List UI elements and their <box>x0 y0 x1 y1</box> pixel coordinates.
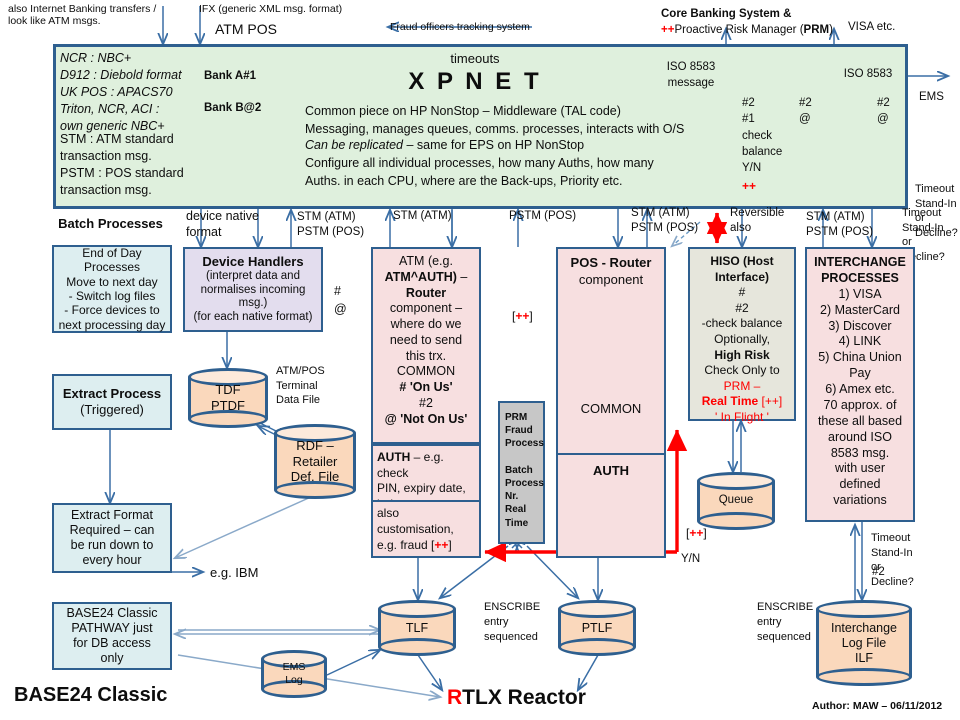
atm-auth-custom-bracket-close: ] <box>448 538 451 552</box>
xpnet-iso8583-right: ISO 8583 <box>832 68 904 81</box>
box-extract-process-title: Extract Process <box>63 386 161 402</box>
xpnet-description-2: Configure all individual processes, how … <box>305 155 705 191</box>
annotation-internet-banking: also Internet Banking transfers / look l… <box>8 3 158 27</box>
bracket-close-1: ] <box>529 309 532 323</box>
hiso-realtime: Real Time [++] <box>693 394 791 410</box>
cylinder-rdf[interactable]: RDF – Retailer Def. File <box>274 424 356 499</box>
atm-auth-custom-plus: ++ <box>434 538 448 552</box>
rtlx-reactor-title: RTLX Reactor <box>447 686 707 710</box>
label-plus-bracket-1: [++] <box>512 310 548 324</box>
hiso-lines: # #2 -check balance Optionally, <box>693 285 791 347</box>
annotation-ifx: IFX (generic XML msg. format) <box>199 3 379 15</box>
xpnet-bank-b: Bank B@2 <box>204 102 264 115</box>
cylinder-ems-log-label: EMS Log <box>261 650 327 698</box>
label-batch-processes: Batch Processes <box>48 216 173 231</box>
label-reversible-also: Reversible also <box>730 206 790 236</box>
xpnet-ems-label: EMS <box>919 91 959 104</box>
core-banking-prm-abbr: PRM <box>804 24 830 36</box>
bracket-plus-1: ++ <box>515 309 529 323</box>
cylinder-tdf-label: TDF PTDF <box>188 368 268 428</box>
xpnet-formats-italic: NCR : NBC+ D912 : Diebold format UK POS … <box>60 50 202 135</box>
box-extract-process[interactable]: Extract Process (Triggered) <box>52 374 172 430</box>
pos-auth-label: AUTH <box>562 463 660 479</box>
annotation-core-banking-line1: Core Banking System & <box>661 8 891 21</box>
box-extract-format-label: Extract Format Required – can be run dow… <box>70 508 155 568</box>
hiso-title: HISO (Host Interface) <box>693 254 791 285</box>
hiso-prm: PRM – <box>693 379 791 395</box>
footer-author: Author: MAW – 06/11/2012 <box>812 700 960 712</box>
xpnet-column-1: #2 #1 check balance Y/N <box>742 95 802 177</box>
box-base24-pathway-label: BASE24 Classic PATHWAY just for DB acces… <box>66 606 157 666</box>
box-end-of-day-label: End of Day Processes Move to next day - … <box>59 246 166 332</box>
atm-auth-head: AUTH – e.g. check <box>377 450 475 481</box>
xpnet-timeouts-label: timeouts <box>425 51 525 66</box>
xpnet-description-1: Common piece on HP NonStop – Middleware … <box>305 103 705 139</box>
box-extract-process-body: (Triggered) <box>80 402 144 418</box>
xpnet-bank-a: Bank A#1 <box>204 70 264 83</box>
cylinder-ptlf[interactable]: PTLF <box>558 600 636 656</box>
label-stm-pstm-4: STM (ATM) PSTM (POS) <box>631 206 715 236</box>
atm-router-hash2: #2 <box>376 396 476 412</box>
label-atm-pos-terminal-data-file: ATM/POS Terminal Data File <box>276 364 346 408</box>
atm-router-line4: component – where do we need to send thi… <box>376 301 476 380</box>
footer-title: BASE24 Classic <box>14 684 274 707</box>
interchange-title: INTERCHANGE PROCESSES <box>810 255 910 287</box>
label-pstm-pos-3: PSTM (POS) <box>509 210 591 223</box>
label-hash-at: # @ <box>334 283 354 318</box>
label-enscribe-1: ENSCRIBE entry sequenced <box>484 600 554 645</box>
label-timeout-standin-decline-2: Timeout Stand-In or Decline? <box>871 531 931 589</box>
pos-router-title: POS - Router <box>562 255 660 272</box>
box-base24-pathway[interactable]: BASE24 Classic PATHWAY just for DB acces… <box>52 602 172 670</box>
xpnet-iso8583-message: ISO 8583 message <box>660 60 722 91</box>
cylinder-ilf-label: Interchange Log File ILF <box>816 600 912 686</box>
box-interchange-processes[interactable]: INTERCHANGE PROCESSES 1) VISA 2) MasterC… <box>805 247 915 522</box>
cylinder-tlf-label: TLF <box>378 600 456 656</box>
atm-router-authname: ATM^AUTH) <box>385 270 457 284</box>
label-yn: Y/N <box>681 553 721 566</box>
box-atm-auth-lower[interactable]: also customisation, e.g. fraud [++] <box>371 500 481 558</box>
label-hash2: #2 <box>872 566 902 579</box>
xpnet-replicated-italic: Can be replicated <box>305 138 403 152</box>
atm-router-dash: – <box>457 270 467 284</box>
hiso-realtime-plus: [++] <box>758 394 782 408</box>
diagram-canvas: also Internet Banking transfers / look l… <box>0 0 960 720</box>
xpnet-column-3: #2 @ <box>877 95 917 128</box>
atm-router-line1: ATM (e.g. <box>376 254 476 270</box>
atm-auth-head-bold: AUTH <box>377 450 410 464</box>
box-pos-auth[interactable]: AUTH <box>556 453 666 558</box>
annotation-atm-pos: ATM POS <box>215 21 335 37</box>
label-stm-pstm-5: STM (ATM) PSTM (POS) <box>806 210 890 240</box>
label-device-native-format: device native format <box>186 208 268 240</box>
cylinder-tlf[interactable]: TLF <box>378 600 456 656</box>
cylinder-tdf[interactable]: TDF PTDF <box>188 368 268 428</box>
box-end-of-day[interactable]: End of Day Processes Move to next day - … <box>52 245 172 333</box>
xpnet-column-2: #2 @ <box>799 95 839 128</box>
core-banking-paren: ) <box>829 24 833 36</box>
hiso-realtime-bold: Real Time <box>702 394 758 408</box>
xpnet-replicated-rest: – same for EPS on HP NonStop <box>406 138 584 152</box>
cylinder-rdf-label: RDF – Retailer Def. File <box>274 424 356 499</box>
annotation-fraud-officers: Fraud officers tracking system <box>390 21 550 33</box>
cylinder-ems-log[interactable]: EMS Log <box>261 650 327 698</box>
core-banking-prm-text: Proactive Risk Manager ( <box>674 24 803 36</box>
interchange-body: 1) VISA 2) MasterCard 3) Discover 4) LIN… <box>810 287 910 509</box>
box-prm-fraud-process[interactable]: PRM Fraud Process Batch Process Nr. Real… <box>498 401 545 544</box>
label-stm-pstm-1: STM (ATM) PSTM (POS) <box>297 210 379 240</box>
atm-router-line3: Router <box>376 286 476 302</box>
pos-router-common: COMMON <box>562 401 660 418</box>
cylinder-queue-label: Queue <box>697 472 775 530</box>
box-atm-auth-upper[interactable]: AUTH – e.g. check PIN, expiry date, bala… <box>371 444 481 500</box>
atm-router-line2: ATM^AUTH) – <box>376 270 476 286</box>
hiso-check-only: Check Only to <box>693 363 791 379</box>
core-banking-plus: ++ <box>661 24 674 36</box>
hiso-high-risk: High Risk <box>693 348 791 364</box>
box-pos-router[interactable]: POS - Router component COMMON <box>556 247 666 453</box>
box-hiso[interactable]: HISO (Host Interface) # #2 -check balanc… <box>688 247 796 421</box>
xpnet-title: X P N E T <box>355 68 595 96</box>
atm-router-not-on-us: @ 'Not On Us' <box>376 412 476 428</box>
box-device-handlers-title: Device Handlers <box>202 254 303 270</box>
annotation-visa-etc: VISA etc. <box>848 21 948 34</box>
box-device-handlers-body: (interpret data and normalises incoming … <box>194 270 313 325</box>
cylinder-ptlf-label: PTLF <box>558 600 636 656</box>
pos-router-sub: component <box>562 272 660 289</box>
xpnet-description-replicated: Can be replicated – same for EPS on HP N… <box>305 138 705 153</box>
prm-fraud-label: PRM Fraud Process Batch Process Nr. Real… <box>505 412 544 529</box>
label-stm-atm-2: STM (ATM) <box>393 210 475 223</box>
rtlx-reactor-r: R <box>447 686 462 709</box>
xpnet-formats-roman: STM : ATM standard transaction msg. PSTM… <box>60 131 205 199</box>
atm-router-on-us: # 'On Us' <box>376 380 476 396</box>
box-atm-router[interactable]: ATM (e.g. ATM^AUTH) – Router component –… <box>371 247 481 444</box>
label-eg-ibm: e.g. IBM <box>210 565 280 580</box>
atm-auth-custom: also customisation, e.g. fraud [++] <box>377 506 475 553</box>
box-extract-format[interactable]: Extract Format Required – can be run dow… <box>52 503 172 573</box>
box-device-handlers[interactable]: Device Handlers (interpret data and norm… <box>183 247 323 332</box>
hiso-inflight: ' In Flight ' <box>693 410 791 426</box>
cylinder-queue[interactable]: Queue <box>697 472 775 530</box>
cylinder-ilf[interactable]: Interchange Log File ILF <box>816 600 912 686</box>
xpnet-column-1-plus: ++ <box>742 180 772 194</box>
rtlx-reactor-rest: TLX Reactor <box>462 686 586 709</box>
